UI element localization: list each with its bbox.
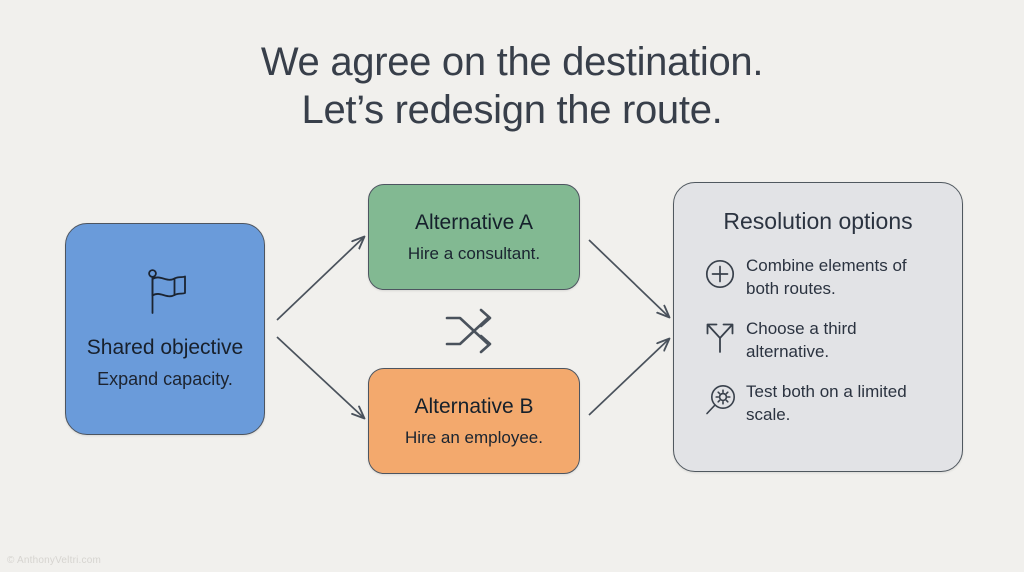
flag-icon (141, 266, 189, 323)
node-subtitle: Hire a consultant. (408, 243, 540, 264)
flow-diagram: Shared objective Expand capacity. Altern… (0, 0, 1024, 572)
resolution-option[interactable]: Combine elements of both routes. (700, 253, 942, 300)
node-alternative-a[interactable]: Alternative A Hire a consultant. (368, 184, 580, 290)
resolution-option[interactable]: Choose a third alternative. (700, 316, 942, 363)
shuffle-icon (443, 305, 505, 357)
slide: We agree on the destination. Let’s redes… (0, 0, 1024, 572)
panel-resolution-options[interactable]: Resolution options Combine elements of b… (673, 182, 963, 472)
node-title: Alternative B (414, 394, 533, 420)
watermark: © AnthonyVeltri.com (7, 555, 101, 566)
node-title: Alternative A (415, 210, 533, 236)
node-shared-objective[interactable]: Shared objective Expand capacity. (65, 223, 265, 435)
node-alternative-b[interactable]: Alternative B Hire an employee. (368, 368, 580, 474)
node-subtitle: Expand capacity. (97, 368, 233, 390)
resolution-option[interactable]: Test both on a limited scale. (700, 379, 942, 426)
plus-circle-icon (700, 254, 740, 294)
resolution-option-text: Test both on a limited scale. (746, 379, 942, 426)
panel-title: Resolution options (700, 207, 942, 235)
magnifier-gear-icon (700, 380, 740, 420)
node-title: Shared objective (87, 335, 243, 360)
fork-arrows-icon (700, 317, 740, 357)
resolution-option-text: Combine elements of both routes. (746, 253, 942, 300)
node-subtitle: Hire an employee. (405, 427, 543, 448)
resolution-option-text: Choose a third alternative. (746, 316, 942, 363)
